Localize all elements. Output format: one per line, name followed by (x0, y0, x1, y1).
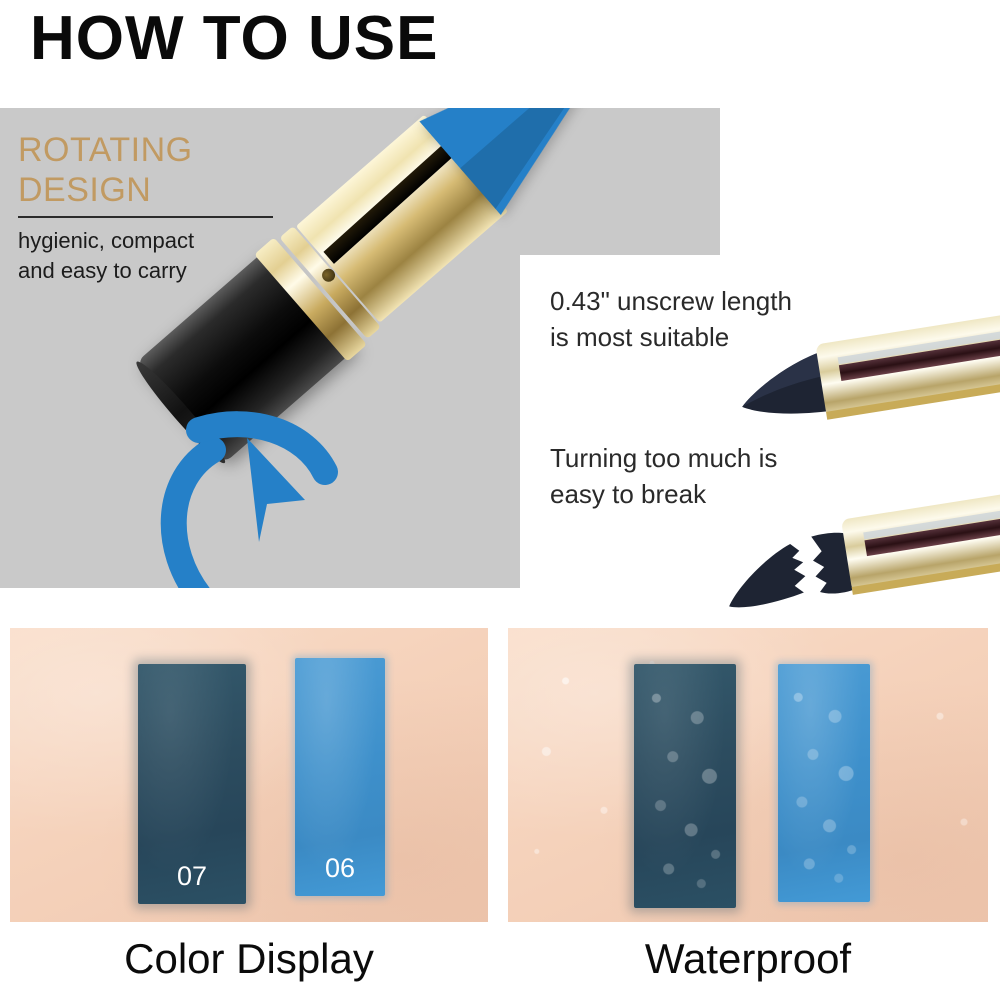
rotate-arrow-icon (155, 408, 395, 588)
callout-panel: 0.43" unscrew length is most suitable Tu… (520, 255, 1000, 610)
swatch-07-label: 07 (138, 863, 246, 890)
skin-background-wet (508, 628, 988, 922)
page-title: HOW TO USE (30, 8, 438, 70)
pen-broken-tip-photo (720, 487, 1000, 637)
waterproof-panel (508, 628, 988, 922)
skin-background (10, 628, 488, 922)
pen-intact-tip-photo (730, 307, 1000, 457)
swatch-07: 07 (138, 664, 246, 904)
waterproof-caption: Waterproof (508, 928, 988, 990)
swatch-06-label: 06 (295, 855, 385, 882)
color-display-caption: Color Display (10, 928, 488, 990)
swatch-06-waterproof (778, 664, 870, 902)
color-display-panel: 07 06 (10, 628, 488, 922)
infographic-root: HOW TO USE ROTATING DESIGN hygienic, com… (0, 0, 1000, 1000)
swatch-07-waterproof (634, 664, 736, 908)
swatch-06: 06 (295, 658, 385, 896)
broken-tip-fragment (721, 542, 809, 609)
